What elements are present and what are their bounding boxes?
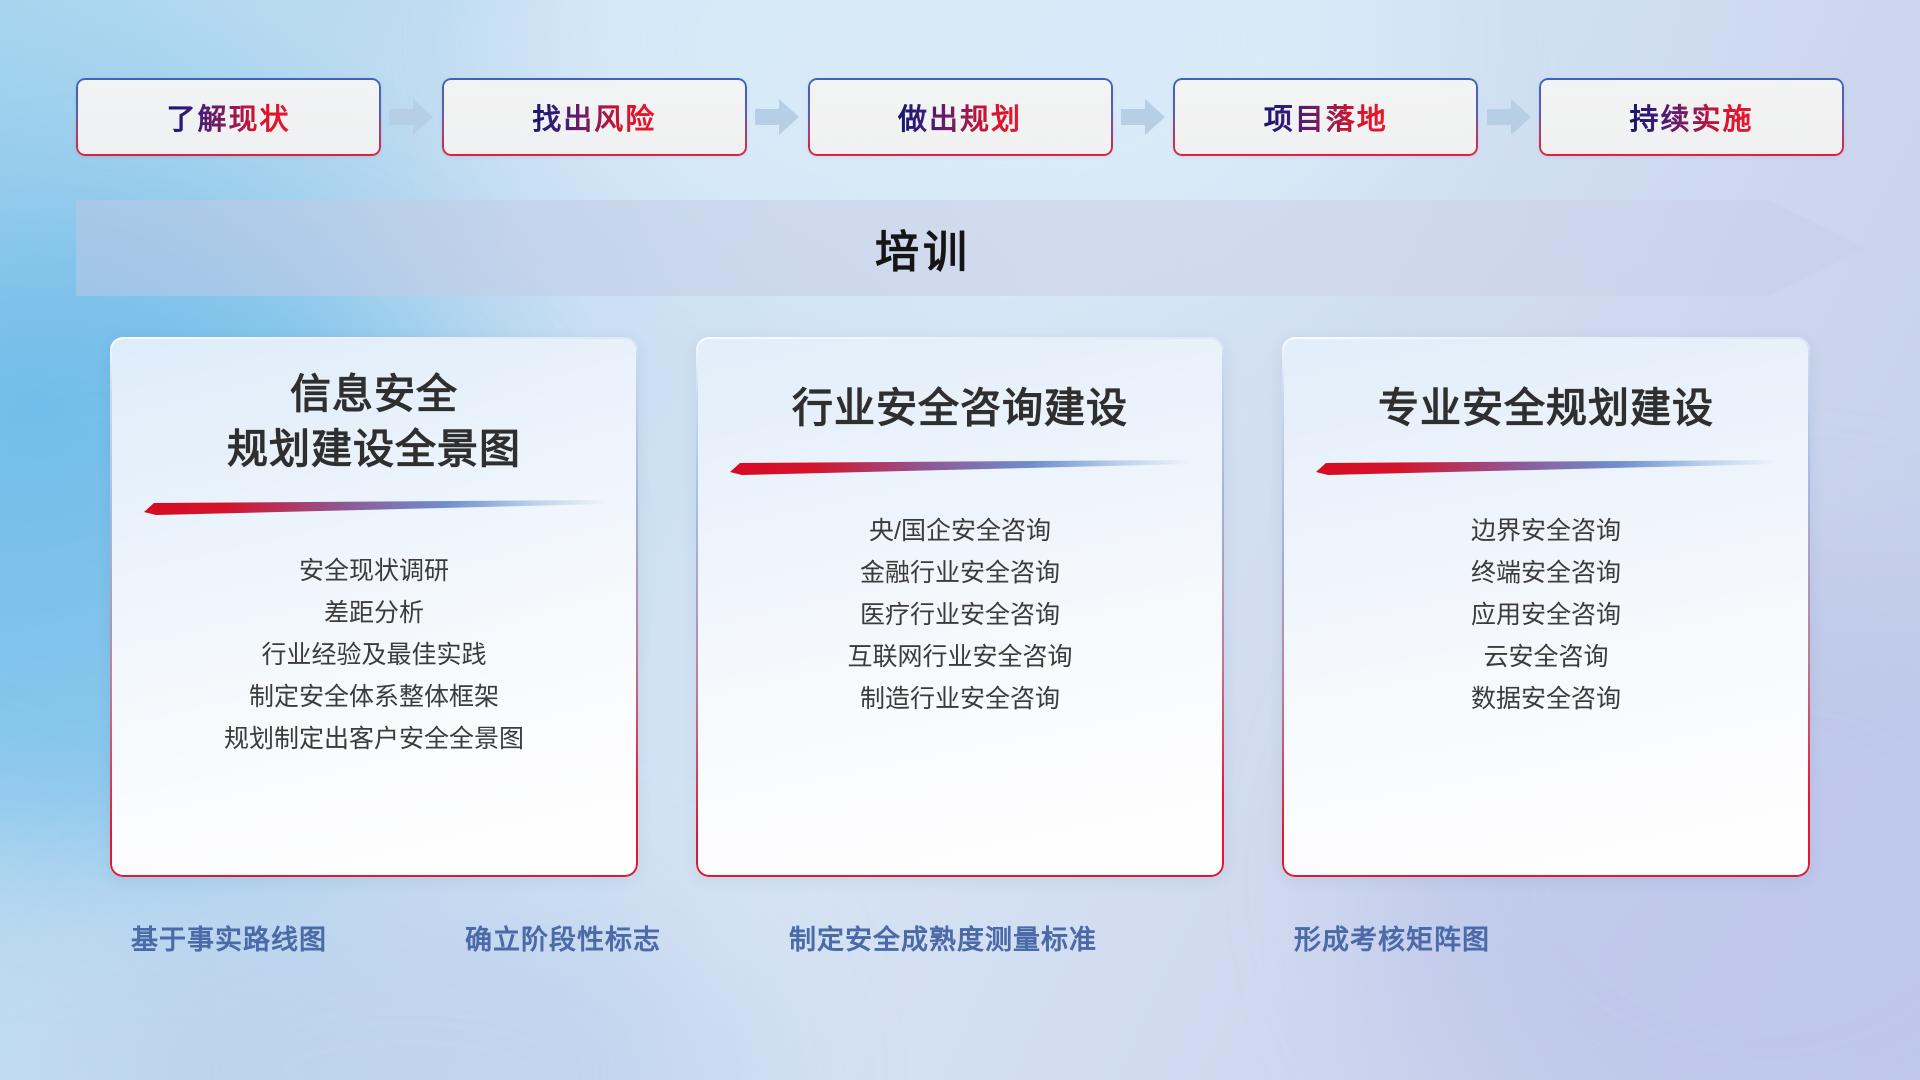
training-banner: 培训 bbox=[76, 200, 1866, 296]
card-industry-security-consulting[interactable]: 行业安全咨询建设 bbox=[696, 337, 1224, 877]
list-item: 医疗行业安全咨询 bbox=[724, 594, 1196, 636]
list-item: 云安全咨询 bbox=[1310, 636, 1782, 678]
footnote-label: 确立阶段性标志 bbox=[465, 918, 661, 957]
arrow-right-icon bbox=[754, 97, 800, 137]
footnote-label: 形成考核矩阵图 bbox=[1294, 918, 1490, 957]
card-title-line: 专业安全规划建设 bbox=[1310, 381, 1782, 436]
process-step-row: 了解现状 找出风险 做出规划 项目落地 bbox=[76, 76, 1844, 158]
card-title-line: 信息安全 bbox=[138, 367, 610, 422]
list-item: 终端安全咨询 bbox=[1310, 552, 1782, 594]
card-divider bbox=[730, 458, 1190, 476]
list-item: 制造行业安全咨询 bbox=[724, 678, 1196, 720]
card-row: 信息安全 规划建设全景图 bbox=[110, 337, 1810, 877]
arrow-right-icon bbox=[1120, 97, 1166, 137]
card-title: 专业安全规划建设 bbox=[1310, 381, 1782, 436]
list-item: 央/国企安全咨询 bbox=[724, 510, 1196, 552]
list-item: 应用安全咨询 bbox=[1310, 594, 1782, 636]
footnote-label: 制定安全成熟度测量标准 bbox=[789, 918, 1097, 957]
list-item: 金融行业安全咨询 bbox=[724, 552, 1196, 594]
card-divider bbox=[1316, 458, 1776, 476]
list-item: 安全现状调研 bbox=[138, 550, 610, 592]
list-item: 边界安全咨询 bbox=[1310, 510, 1782, 552]
step-label: 找出风险 bbox=[532, 96, 656, 138]
card-information-security-blueprint[interactable]: 信息安全 规划建设全景图 bbox=[110, 337, 638, 877]
step-box-1[interactable]: 了解现状 bbox=[76, 78, 381, 156]
list-item: 互联网行业安全咨询 bbox=[724, 636, 1196, 678]
card-item-list: 安全现状调研 差距分析 行业经验及最佳实践 制定安全体系整体框架 规划制定出客户… bbox=[138, 550, 610, 760]
card-title-line: 规划建设全景图 bbox=[138, 422, 610, 477]
list-item: 差距分析 bbox=[138, 592, 610, 634]
step-box-3[interactable]: 做出规划 bbox=[808, 78, 1113, 156]
background-blob-bottom bbox=[60, 880, 760, 1080]
step-label: 持续实施 bbox=[1629, 96, 1753, 138]
card-title: 行业安全咨询建设 bbox=[724, 381, 1196, 436]
card-item-list: 央/国企安全咨询 金融行业安全咨询 医疗行业安全咨询 互联网行业安全咨询 制造行… bbox=[724, 510, 1196, 720]
step-box-5[interactable]: 持续实施 bbox=[1539, 78, 1844, 156]
step-label: 做出规划 bbox=[898, 96, 1022, 138]
list-item: 数据安全咨询 bbox=[1310, 678, 1782, 720]
step-box-4[interactable]: 项目落地 bbox=[1173, 78, 1478, 156]
card-item-list: 边界安全咨询 终端安全咨询 应用安全咨询 云安全咨询 数据安全咨询 bbox=[1310, 510, 1782, 720]
arrow-right-icon bbox=[388, 97, 434, 137]
step-label: 了解现状 bbox=[166, 96, 290, 138]
list-item: 行业经验及最佳实践 bbox=[138, 634, 610, 676]
footnote-row: 基于事实路线图 确立阶段性标志 制定安全成熟度测量标准 形成考核矩阵图 bbox=[0, 918, 1920, 964]
slide-canvas: 了解现状 找出风险 做出规划 项目落地 bbox=[0, 0, 1920, 1080]
footnote-label: 基于事实路线图 bbox=[131, 918, 327, 957]
card-professional-security-planning[interactable]: 专业安全规划建设 bbox=[1282, 337, 1810, 877]
step-label: 项目落地 bbox=[1264, 96, 1388, 138]
list-item: 规划制定出客户安全全景图 bbox=[138, 718, 610, 760]
card-title-line: 行业安全咨询建设 bbox=[724, 381, 1196, 436]
list-item: 制定安全体系整体框架 bbox=[138, 676, 610, 718]
arrow-right-icon bbox=[1486, 97, 1532, 137]
banner-title: 培训 bbox=[76, 200, 1866, 296]
card-title: 信息安全 规划建设全景图 bbox=[138, 367, 610, 476]
card-divider bbox=[144, 498, 604, 516]
step-box-2[interactable]: 找出风险 bbox=[442, 78, 747, 156]
